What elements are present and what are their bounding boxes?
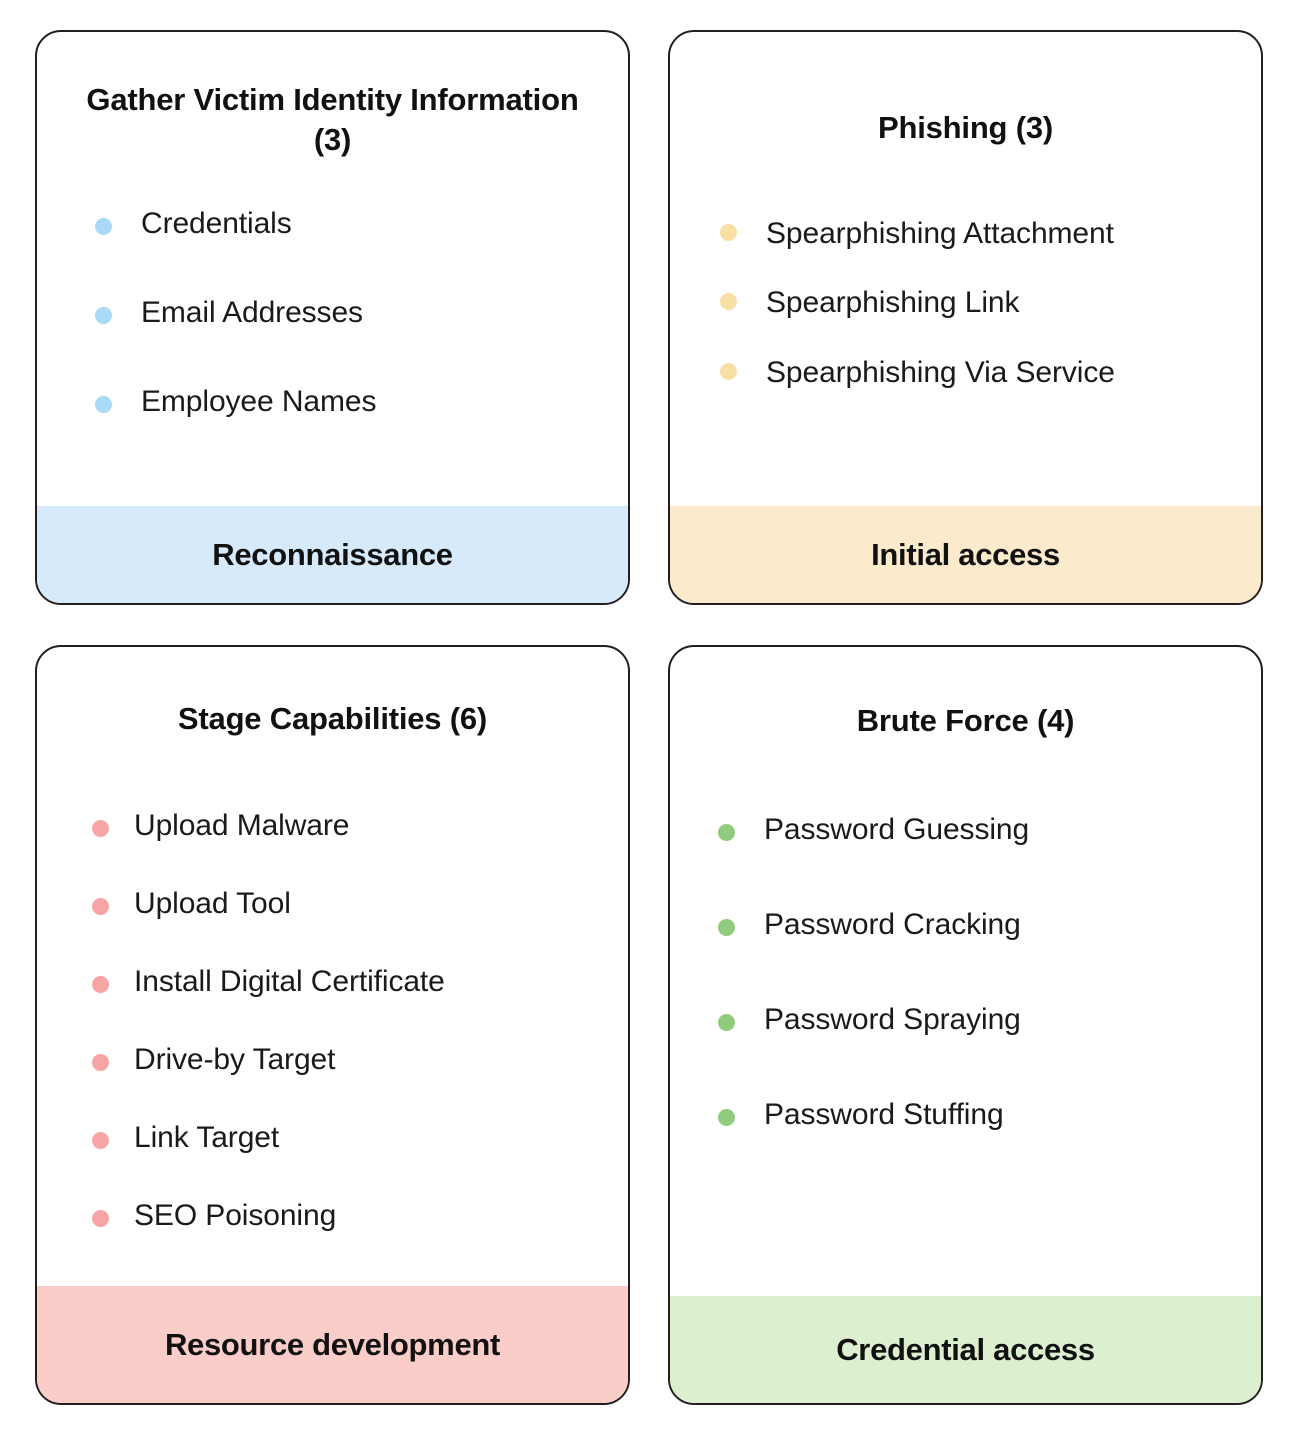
list-item[interactable]: Upload Tool	[92, 887, 628, 921]
list-item-label: Upload Tool	[134, 887, 291, 921]
technique-list: Password Guessing Password Cracking Pass…	[670, 813, 1261, 1132]
list-item-label: Drive-by Target	[134, 1043, 335, 1077]
list-item-label: Spearphishing Attachment	[766, 212, 1114, 256]
list-item-label: Password Guessing	[764, 813, 1029, 847]
bullet-dot-icon	[95, 396, 112, 413]
bullet-dot-icon	[720, 224, 737, 241]
list-item[interactable]: Spearphishing Link	[720, 281, 1261, 325]
list-item[interactable]: Link Target	[92, 1121, 628, 1155]
bullet-dot-icon	[95, 307, 112, 324]
list-item-label: Email Addresses	[141, 296, 363, 330]
bullet-dot-icon	[92, 1210, 109, 1227]
card-title: Brute Force (4)	[670, 647, 1261, 741]
list-item[interactable]: Email Addresses	[95, 296, 628, 330]
list-item-label: Password Cracking	[764, 908, 1021, 942]
card-body: Brute Force (4) Password Guessing Passwo…	[670, 647, 1261, 1296]
list-item-label: Upload Malware	[134, 809, 349, 843]
card-credential-access[interactable]: Brute Force (4) Password Guessing Passwo…	[668, 645, 1263, 1405]
bullet-dot-icon	[720, 363, 737, 380]
card-footer-tactic: Credential access	[670, 1296, 1261, 1403]
technique-list: Upload Malware Upload Tool Install Digit…	[37, 809, 628, 1233]
bullet-dot-icon	[92, 1132, 109, 1149]
list-item-label: SEO Poisoning	[134, 1199, 336, 1233]
list-item[interactable]: Employee Names	[95, 385, 628, 419]
card-title: Stage Capabilities (6)	[37, 647, 628, 739]
list-item-label: Spearphishing Via Service	[766, 351, 1115, 395]
card-footer-tactic: Resource development	[37, 1286, 628, 1403]
list-item[interactable]: Password Spraying	[718, 1003, 1261, 1037]
list-item[interactable]: Password Cracking	[718, 908, 1261, 942]
bullet-dot-icon	[720, 293, 737, 310]
list-item-label: Spearphishing Link	[766, 281, 1019, 325]
bullet-dot-icon	[92, 820, 109, 837]
list-item[interactable]: Password Stuffing	[718, 1098, 1261, 1132]
technique-card-grid: Gather Victim Identity Information (3) C…	[0, 0, 1308, 1432]
card-initial-access[interactable]: Phishing (3) Spearphishing Attachment Sp…	[668, 30, 1263, 605]
list-item-label: Password Spraying	[764, 1003, 1021, 1037]
list-item-label: Employee Names	[141, 385, 376, 419]
list-item[interactable]: SEO Poisoning	[92, 1199, 628, 1233]
list-item[interactable]: Credentials	[95, 207, 628, 241]
bullet-dot-icon	[718, 1014, 735, 1031]
list-item-label: Link Target	[134, 1121, 279, 1155]
card-footer-tactic: Initial access	[670, 506, 1261, 603]
bullet-dot-icon	[92, 1054, 109, 1071]
list-item-label: Password Stuffing	[764, 1098, 1004, 1132]
list-item[interactable]: Upload Malware	[92, 809, 628, 843]
technique-list: Spearphishing Attachment Spearphishing L…	[670, 212, 1261, 395]
technique-list: Credentials Email Addresses Employee Nam…	[37, 207, 628, 419]
list-item[interactable]: Spearphishing Attachment	[720, 212, 1261, 256]
card-title: Phishing (3)	[670, 32, 1261, 148]
list-item[interactable]: Install Digital Certificate	[92, 965, 628, 999]
list-item[interactable]: Spearphishing Via Service	[720, 351, 1261, 395]
card-reconnaissance[interactable]: Gather Victim Identity Information (3) C…	[35, 30, 630, 605]
card-body: Gather Victim Identity Information (3) C…	[37, 32, 628, 506]
card-title: Gather Victim Identity Information (3)	[37, 32, 628, 159]
card-body: Phishing (3) Spearphishing Attachment Sp…	[670, 32, 1261, 506]
list-item[interactable]: Password Guessing	[718, 813, 1261, 847]
bullet-dot-icon	[92, 976, 109, 993]
card-resource-development[interactable]: Stage Capabilities (6) Upload Malware Up…	[35, 645, 630, 1405]
bullet-dot-icon	[92, 898, 109, 915]
list-item-label: Credentials	[141, 207, 292, 241]
bullet-dot-icon	[718, 1109, 735, 1126]
bullet-dot-icon	[718, 824, 735, 841]
bullet-dot-icon	[95, 218, 112, 235]
bullet-dot-icon	[718, 919, 735, 936]
list-item[interactable]: Drive-by Target	[92, 1043, 628, 1077]
card-body: Stage Capabilities (6) Upload Malware Up…	[37, 647, 628, 1286]
card-footer-tactic: Reconnaissance	[37, 506, 628, 603]
list-item-label: Install Digital Certificate	[134, 965, 445, 999]
